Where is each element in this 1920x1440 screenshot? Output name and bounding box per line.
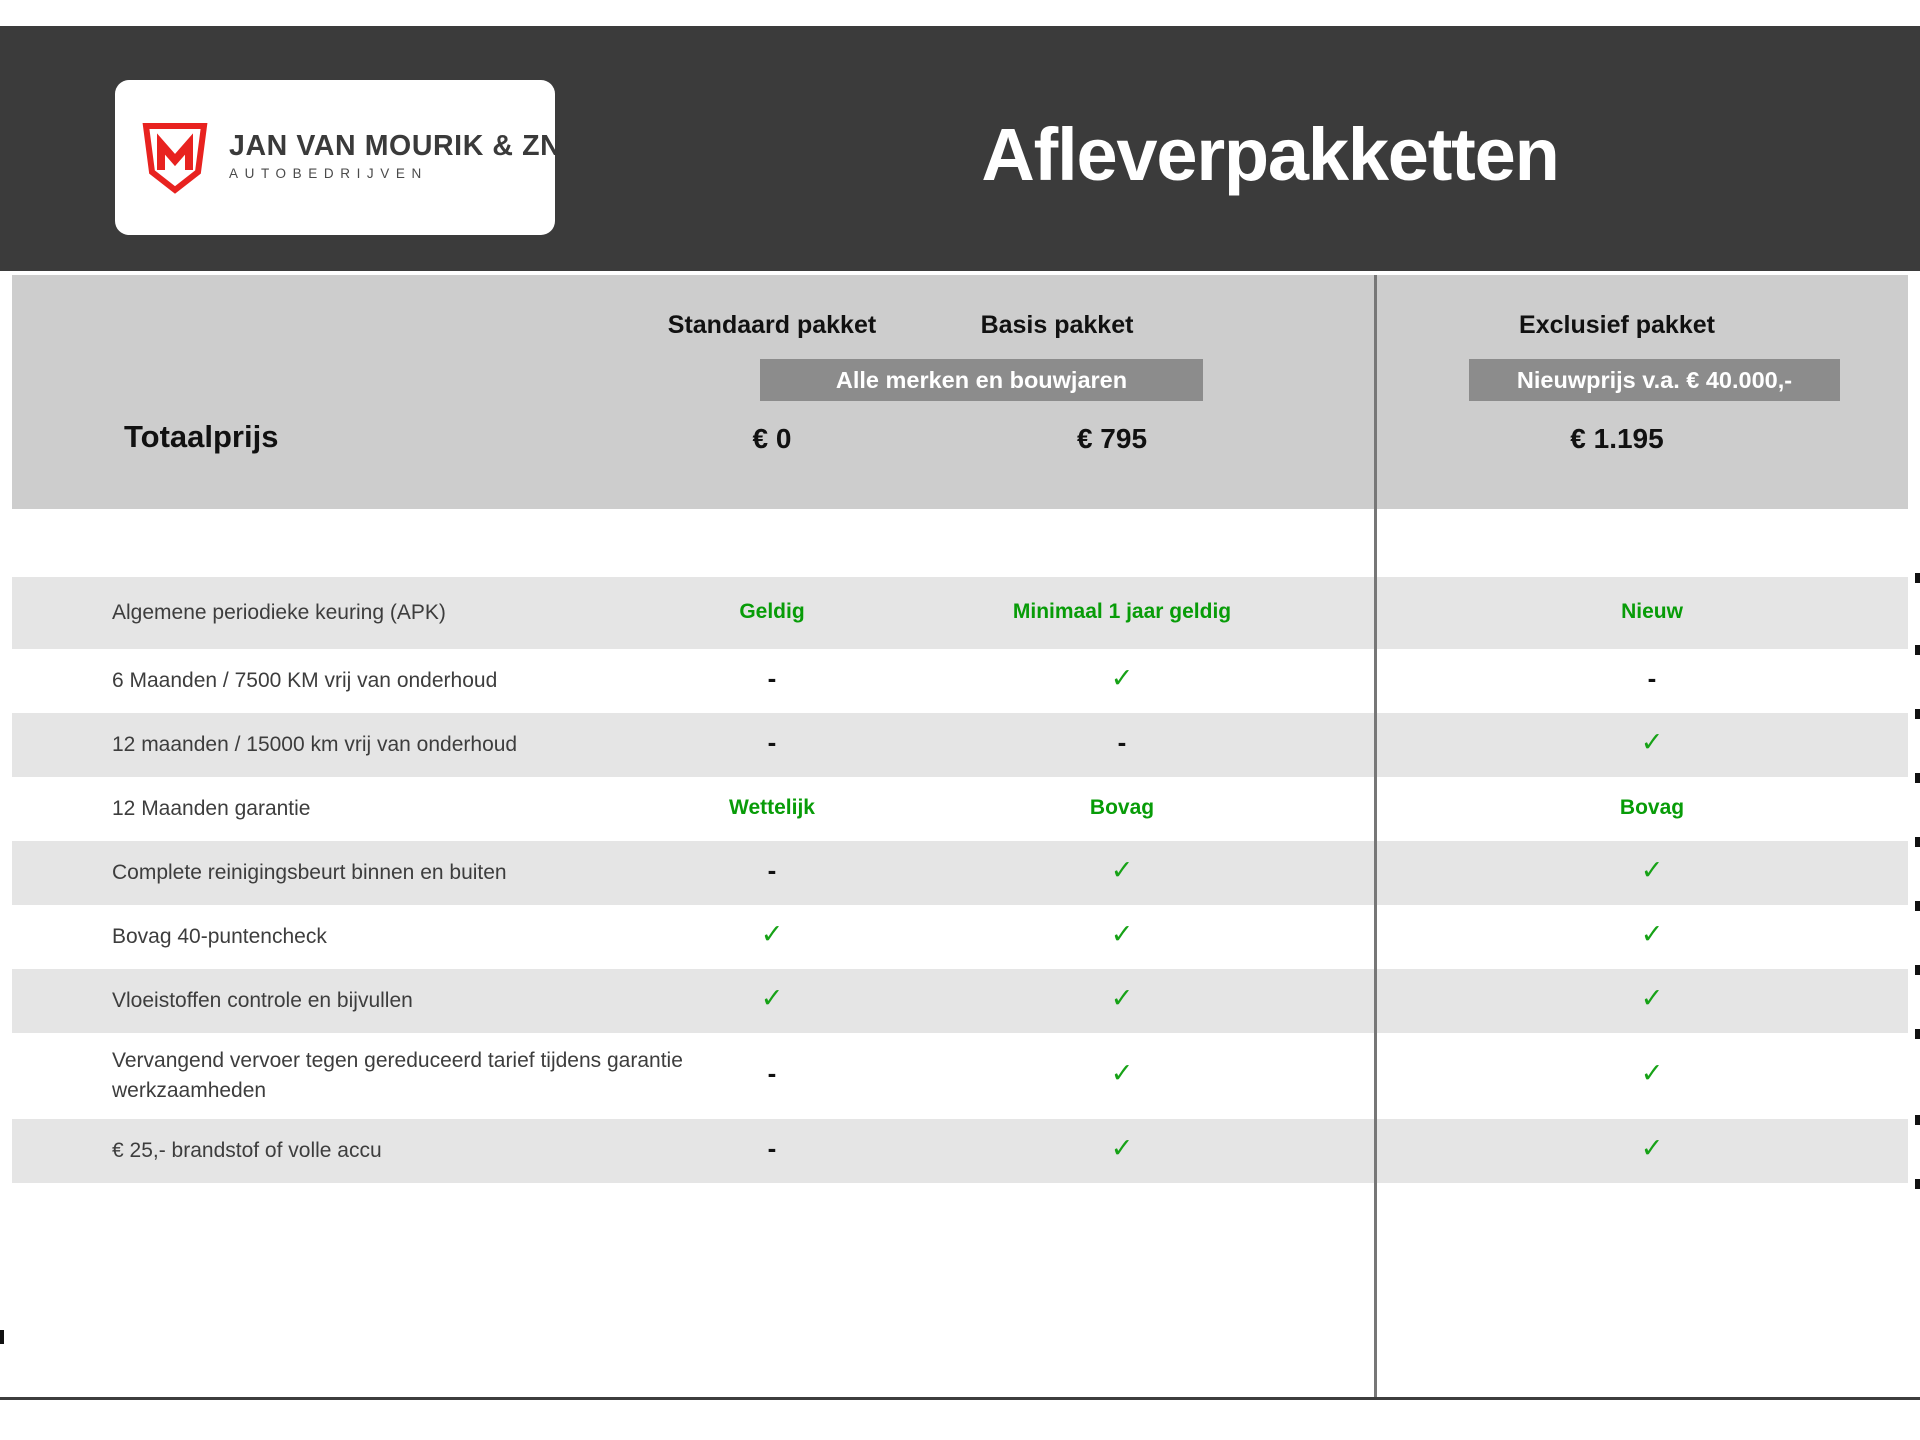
check-icon: ✓ bbox=[1641, 1133, 1664, 1163]
dash-icon: - bbox=[1118, 727, 1127, 757]
check-icon: ✓ bbox=[1641, 1058, 1664, 1088]
cell-exclusief: - bbox=[1532, 665, 1772, 692]
table-row: Algemene periodieke keuring (APK)GeldigM… bbox=[12, 577, 1908, 649]
logo-wordmark: JAN VAN MOURIK & ZN AUTOBEDRIJVEN bbox=[229, 132, 561, 184]
cell-standaard: Wettelijk bbox=[672, 796, 872, 820]
badge-alle-merken: Alle merken en bouwjaren bbox=[760, 359, 1203, 401]
cell-basis: ✓ bbox=[992, 1135, 1252, 1162]
table-row: Bovag 40-puntencheck✓✓✓ bbox=[12, 905, 1908, 969]
cell-basis: Bovag bbox=[992, 796, 1252, 820]
left-edge-tick bbox=[0, 1330, 4, 1344]
table-row: Complete reinigingsbeurt binnen en buite… bbox=[12, 841, 1908, 905]
dash-icon: - bbox=[1648, 663, 1657, 693]
check-icon: ✓ bbox=[1111, 919, 1134, 949]
check-icon: ✓ bbox=[1111, 1058, 1134, 1088]
dash-icon: - bbox=[768, 855, 777, 885]
cell-text: Bovag bbox=[1090, 796, 1154, 819]
head-spacer-band bbox=[12, 509, 1908, 577]
check-icon: ✓ bbox=[1111, 855, 1134, 885]
logo-tagline: AUTOBEDRIJVEN bbox=[229, 165, 561, 184]
cell-text: Geldig bbox=[739, 600, 804, 623]
table-row: 12 Maanden garantieWettelijkBovagBovag bbox=[12, 777, 1908, 841]
cell-standaard: - bbox=[672, 857, 872, 884]
cell-exclusief: Bovag bbox=[1532, 796, 1772, 820]
totaalprijs-label: Totaalprijs bbox=[124, 419, 278, 455]
dash-icon: - bbox=[768, 1058, 777, 1088]
cell-exclusief: ✓ bbox=[1532, 1060, 1772, 1087]
dash-icon: - bbox=[768, 663, 777, 693]
table-row: € 25,- brandstof of volle accu-✓✓ bbox=[12, 1119, 1908, 1183]
row-edge-tick bbox=[1915, 709, 1920, 719]
column-header-standaard: Standaard pakket bbox=[632, 311, 912, 340]
feature-label: 6 Maanden / 7500 KM vrij van onderhoud bbox=[112, 666, 712, 696]
row-edge-tick bbox=[1915, 901, 1920, 911]
column-header-basis: Basis pakket bbox=[917, 311, 1197, 340]
shield-m-icon bbox=[141, 122, 209, 194]
cell-standaard: Geldig bbox=[672, 600, 872, 624]
cell-standaard: - bbox=[672, 1060, 872, 1087]
check-icon: ✓ bbox=[1641, 983, 1664, 1013]
cell-standaard: - bbox=[672, 1135, 872, 1162]
table-row: 12 maanden / 15000 km vrij van onderhoud… bbox=[12, 713, 1908, 777]
feature-label: Complete reinigingsbeurt binnen en buite… bbox=[112, 858, 712, 888]
check-icon: ✓ bbox=[1641, 919, 1664, 949]
table-head-block: Standaard pakket Basis pakket Exclusief … bbox=[12, 275, 1908, 509]
feature-label: 12 maanden / 15000 km vrij van onderhoud bbox=[112, 730, 712, 760]
cell-basis: ✓ bbox=[992, 921, 1252, 948]
cell-exclusief: ✓ bbox=[1532, 1135, 1772, 1162]
check-icon: ✓ bbox=[1641, 727, 1664, 757]
check-icon: ✓ bbox=[1111, 983, 1134, 1013]
cell-basis: ✓ bbox=[992, 857, 1252, 884]
cell-text: Wettelijk bbox=[729, 796, 815, 819]
check-icon: ✓ bbox=[761, 983, 784, 1013]
table-row: 6 Maanden / 7500 KM vrij van onderhoud-✓… bbox=[12, 649, 1908, 713]
cell-exclusief: Nieuw bbox=[1532, 600, 1772, 624]
check-icon: ✓ bbox=[1641, 855, 1664, 885]
row-edge-tick bbox=[1915, 837, 1920, 847]
cell-standaard: - bbox=[672, 665, 872, 692]
row-edge-tick bbox=[1915, 965, 1920, 975]
feature-label: 12 Maanden garantie bbox=[112, 794, 712, 824]
cell-standaard: ✓ bbox=[672, 985, 872, 1012]
check-icon: ✓ bbox=[761, 919, 784, 949]
logo-company-name: JAN VAN MOURIK & ZN bbox=[229, 132, 561, 162]
row-edge-tick bbox=[1915, 1179, 1920, 1189]
row-edge-tick bbox=[1915, 573, 1920, 583]
totaalprijs-standaard: € 0 bbox=[672, 423, 872, 455]
cell-basis: - bbox=[992, 729, 1252, 756]
feature-label: € 25,- brandstof of volle accu bbox=[112, 1136, 712, 1166]
column-header-exclusief: Exclusief pakket bbox=[1437, 311, 1797, 340]
cell-basis: ✓ bbox=[992, 665, 1252, 692]
cell-exclusief: ✓ bbox=[1532, 921, 1772, 948]
cell-exclusief: ✓ bbox=[1532, 729, 1772, 756]
exclusief-column-divider bbox=[1374, 275, 1377, 1397]
totaalprijs-basis: € 795 bbox=[1012, 423, 1212, 455]
table-row: Vervangend vervoer tegen gereduceerd tar… bbox=[12, 1033, 1908, 1119]
cell-text: Nieuw bbox=[1621, 600, 1683, 623]
company-logo-card: JAN VAN MOURIK & ZN AUTOBEDRIJVEN bbox=[115, 80, 555, 235]
cell-standaard: - bbox=[672, 729, 872, 756]
page-title: Afleverpakketten bbox=[720, 114, 1820, 195]
feature-label: Vloeistoffen controle en bijvullen bbox=[112, 986, 712, 1016]
feature-label: Bovag 40-puntencheck bbox=[112, 922, 712, 952]
check-icon: ✓ bbox=[1111, 663, 1134, 693]
feature-label: Vervangend vervoer tegen gereduceerd tar… bbox=[112, 1046, 712, 1106]
row-edge-tick bbox=[1915, 1029, 1920, 1039]
totaalprijs-exclusief: € 1.195 bbox=[1487, 423, 1747, 455]
row-edge-tick bbox=[1915, 773, 1920, 783]
table-row: Vloeistoffen controle en bijvullen✓✓✓ bbox=[12, 969, 1908, 1033]
cell-basis: ✓ bbox=[992, 985, 1252, 1012]
cell-text: Bovag bbox=[1620, 796, 1684, 819]
check-icon: ✓ bbox=[1111, 1133, 1134, 1163]
header-band: JAN VAN MOURIK & ZN AUTOBEDRIJVEN Afleve… bbox=[0, 26, 1920, 271]
feature-label: Algemene periodieke keuring (APK) bbox=[112, 598, 712, 628]
afleverpakketten-sheet: JAN VAN MOURIK & ZN AUTOBEDRIJVEN Afleve… bbox=[0, 0, 1920, 1440]
feature-rows: Algemene periodieke keuring (APK)GeldigM… bbox=[12, 577, 1908, 1183]
cell-exclusief: ✓ bbox=[1532, 985, 1772, 1012]
bottom-rule bbox=[0, 1397, 1920, 1400]
dash-icon: - bbox=[768, 727, 777, 757]
cell-text: Minimaal 1 jaar geldig bbox=[1013, 600, 1231, 623]
row-edge-tick bbox=[1915, 645, 1920, 655]
cell-basis: ✓ bbox=[992, 1060, 1252, 1087]
badge-nieuwprijs: Nieuwprijs v.a. € 40.000,- bbox=[1469, 359, 1840, 401]
cell-standaard: ✓ bbox=[672, 921, 872, 948]
dash-icon: - bbox=[768, 1133, 777, 1163]
row-edge-tick bbox=[1915, 1115, 1920, 1125]
cell-exclusief: ✓ bbox=[1532, 857, 1772, 884]
cell-basis: Minimaal 1 jaar geldig bbox=[992, 600, 1252, 624]
